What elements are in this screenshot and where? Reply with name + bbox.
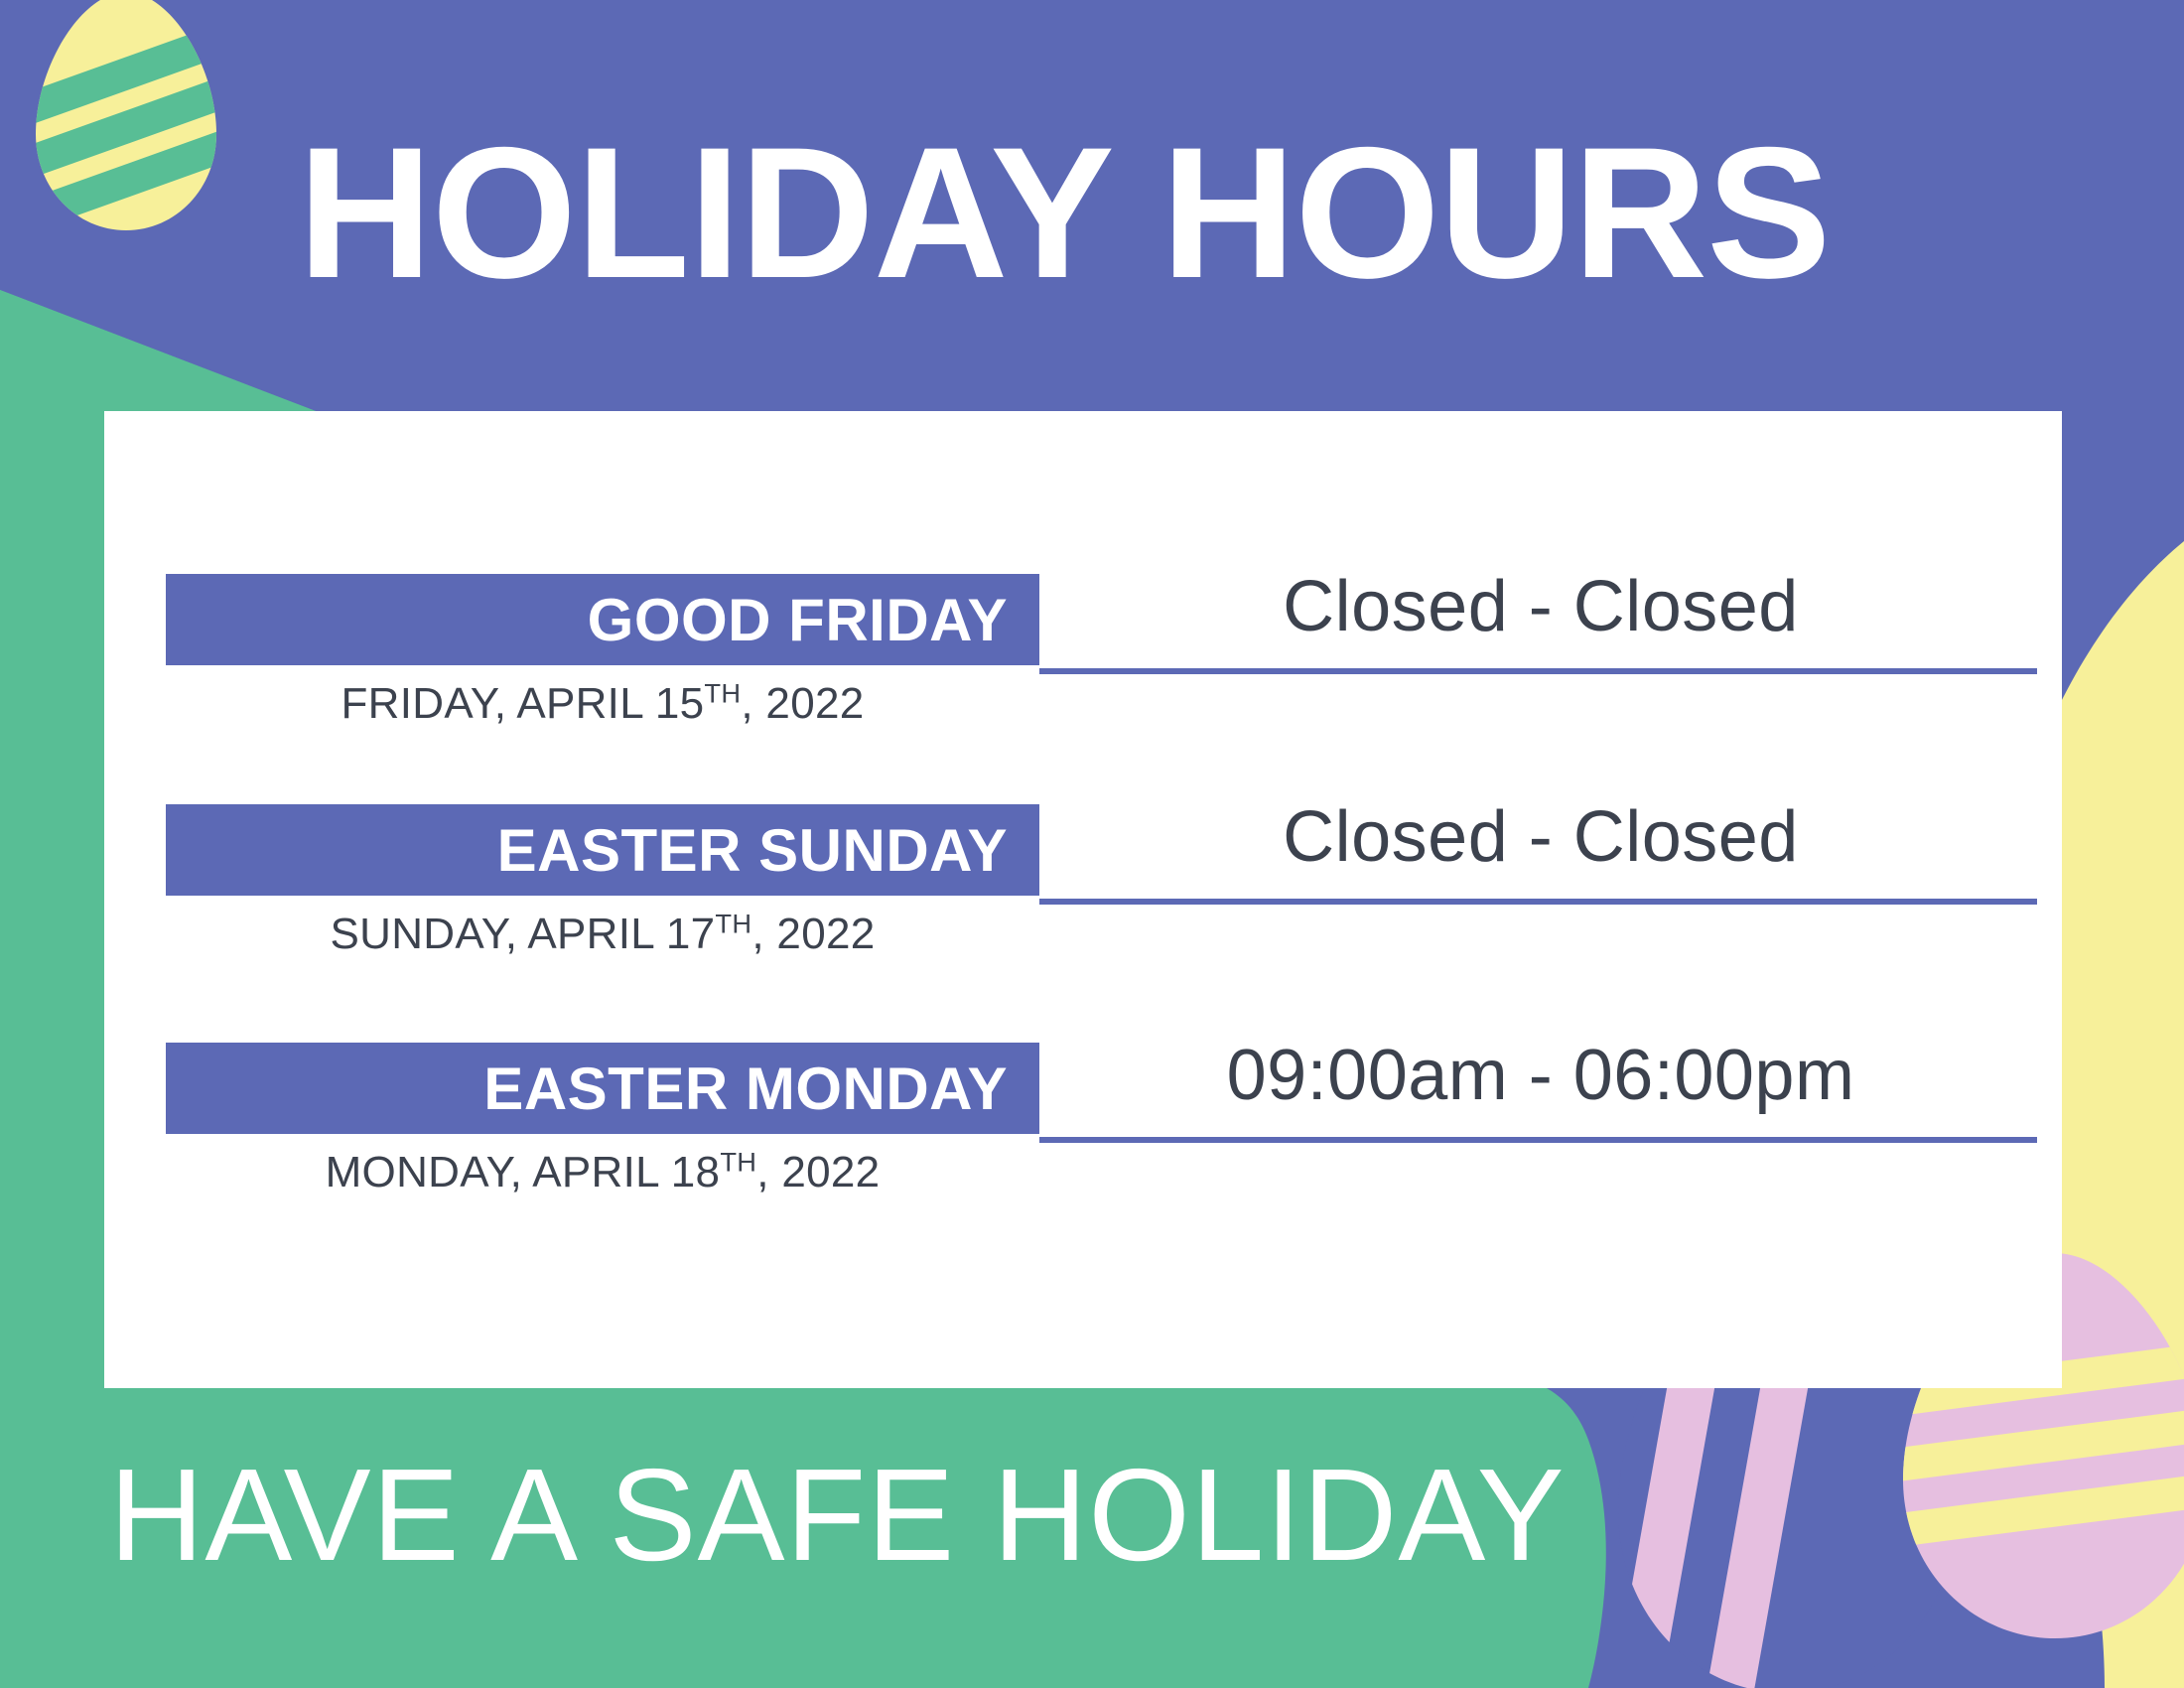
holiday-date-year: , 2022 — [741, 679, 864, 728]
holiday-date-text: FRIDAY, APRIL 15 — [341, 679, 704, 728]
holiday-hours: Closed - Closed — [1039, 796, 2042, 878]
holiday-hours-poster: HOLIDAY HOURS GOOD FRIDAY FRIDAY, APRIL … — [0, 0, 2184, 1688]
easter-egg-yellow-green-stripes-icon — [22, 0, 230, 238]
holiday-name-band: GOOD FRIDAY — [166, 574, 1039, 665]
hours-underline — [1039, 668, 2037, 674]
holiday-date-year: , 2022 — [756, 1148, 880, 1196]
holiday-date-text: SUNDAY, APRIL 17 — [330, 910, 715, 958]
page-title: HOLIDAY HOURS — [298, 119, 1985, 306]
holiday-name-band: EASTER MONDAY — [166, 1043, 1039, 1134]
holiday-date: MONDAY, APRIL 18TH, 2022 — [166, 1148, 1039, 1197]
holiday-date-ordinal: TH — [704, 677, 741, 708]
holiday-date: SUNDAY, APRIL 17TH, 2022 — [166, 910, 1039, 959]
footer-message: HAVE A SAFE HOLIDAY — [109, 1450, 1566, 1581]
holiday-name-band: EASTER SUNDAY — [166, 804, 1039, 896]
schedule-card: GOOD FRIDAY FRIDAY, APRIL 15TH, 2022 Clo… — [104, 411, 2062, 1388]
holiday-date-text: MONDAY, APRIL 18 — [326, 1148, 721, 1196]
hours-underline — [1039, 899, 2037, 905]
hours-underline — [1039, 1137, 2037, 1143]
holiday-date-ordinal: TH — [720, 1146, 756, 1177]
holiday-date-ordinal: TH — [715, 908, 751, 938]
holiday-date-year: , 2022 — [751, 910, 875, 958]
holiday-date: FRIDAY, APRIL 15TH, 2022 — [166, 679, 1039, 729]
holiday-hours: Closed - Closed — [1039, 566, 2042, 647]
holiday-hours: 09:00am - 06:00pm — [1039, 1035, 2042, 1116]
